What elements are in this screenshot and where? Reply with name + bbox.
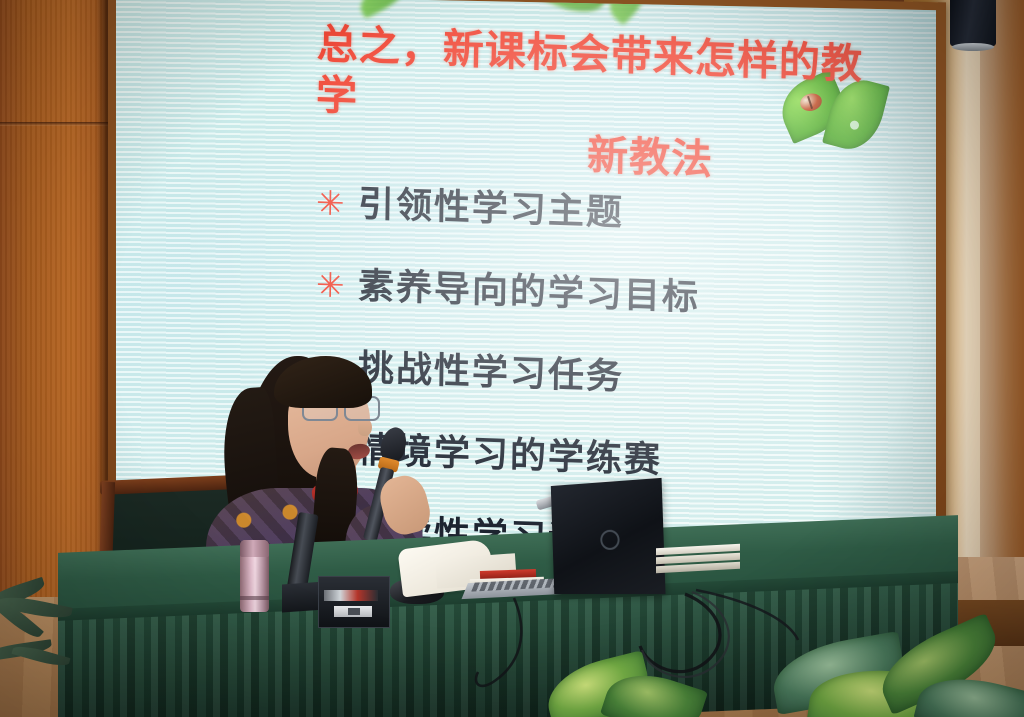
lecture-scene: 总之，新课标会带来怎样的教学 新教法 ✳ 引领性学习主题 ✳ 素养导向的学习目标…: [0, 0, 1024, 717]
slide-bullet-text: 引领性学习主题: [358, 175, 625, 236]
recorder-label: [334, 606, 372, 617]
book-stack: [656, 544, 740, 574]
ceiling-speaker-icon: [950, 0, 996, 46]
asterisk-bullet-icon: ✳: [316, 268, 342, 303]
right-wall-wood-trim: [980, 0, 1024, 640]
laptop-logo-icon: [600, 529, 620, 550]
slide-title-line1: 总之，新课标会带来怎样的教学: [316, 19, 878, 142]
plant-bottom-left: [0, 578, 114, 678]
slide-bullet-text: 素养导向的学习目标: [358, 257, 701, 321]
plant-bottom-right: [540, 640, 1024, 717]
recorder-display: [324, 590, 378, 601]
asterisk-bullet-icon: ✳: [316, 186, 342, 221]
slide-title: 总之，新课标会带来怎样的教学 新教法: [315, 19, 878, 192]
slide-bullet-item: ✳ 素养导向的学习目标: [316, 255, 936, 328]
recorder-device: [318, 576, 390, 628]
thermos-cap: [240, 540, 269, 557]
thermos-ring: [240, 596, 269, 600]
laptop: [551, 478, 666, 594]
